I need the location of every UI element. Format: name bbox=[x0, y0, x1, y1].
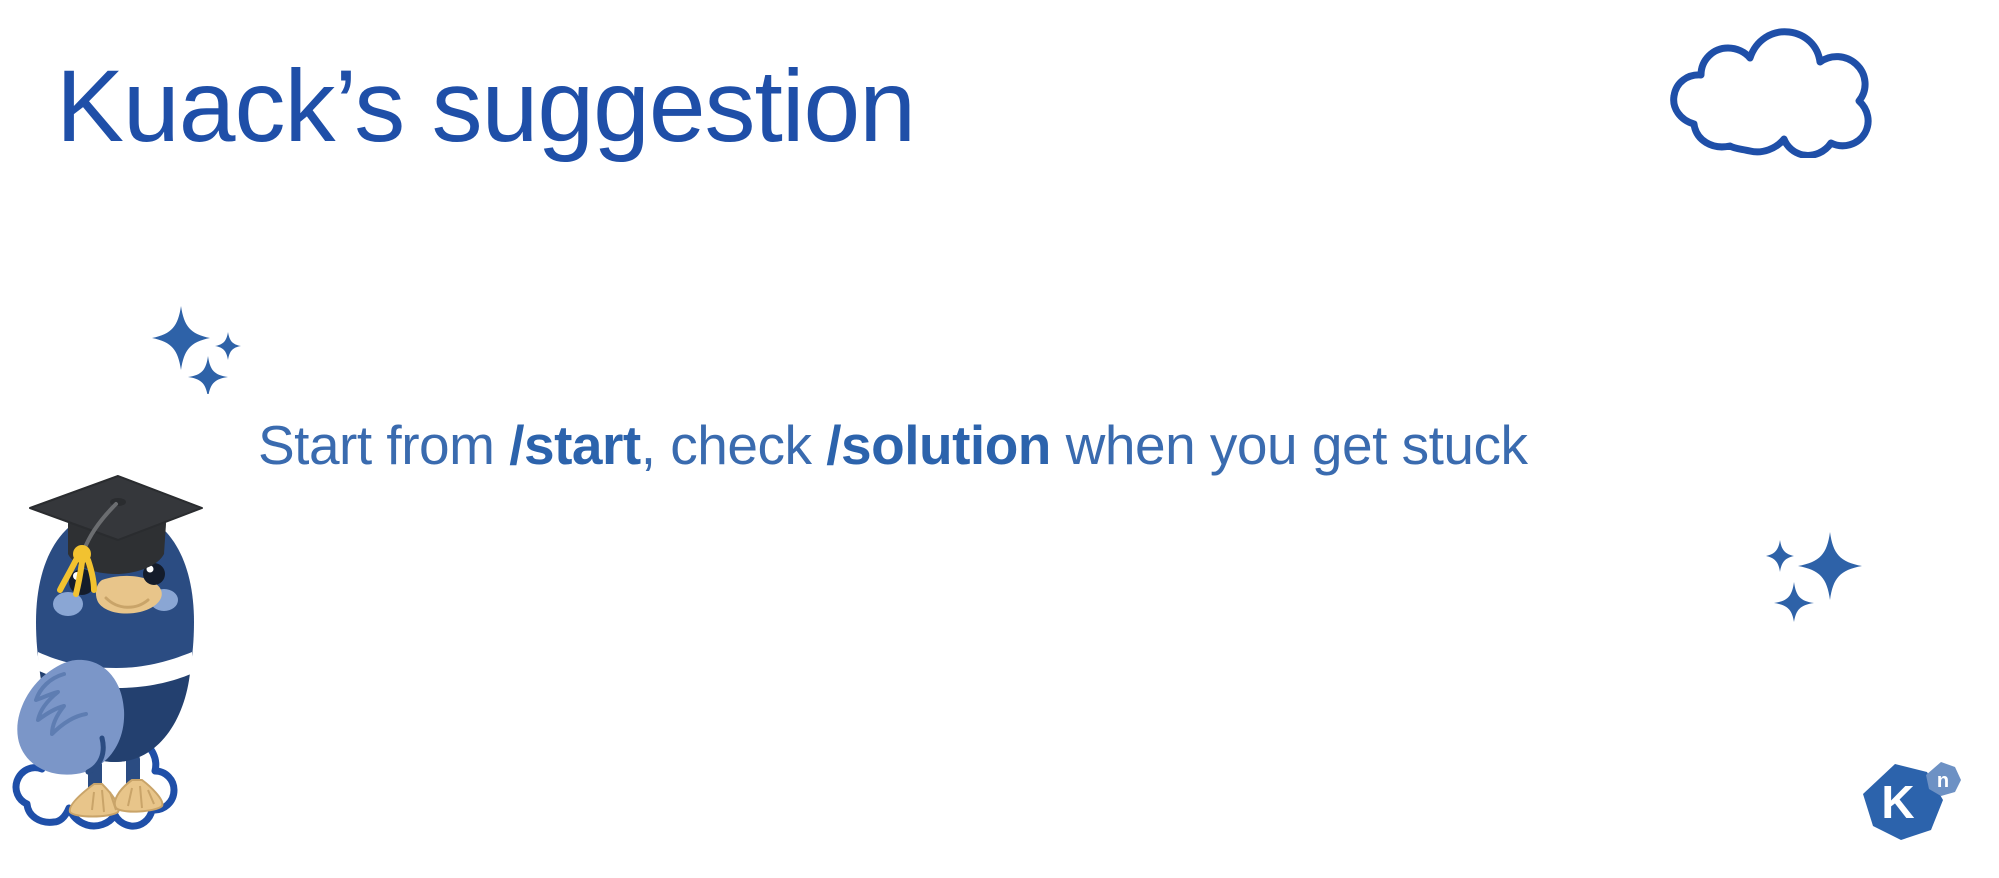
brand-logo-svg[interactable]: K n bbox=[1855, 760, 1965, 852]
sparkles-icon bbox=[148, 302, 248, 394]
page-title: Kuack’s suggestion bbox=[56, 40, 915, 173]
sparkle-medium bbox=[1774, 582, 1814, 622]
sparkles-icon bbox=[1758, 528, 1866, 623]
body-text: Start from /start, check /solution when … bbox=[258, 411, 1528, 480]
sparkle-medium bbox=[188, 356, 228, 394]
body-segment-3: when you get stuck bbox=[1051, 414, 1528, 476]
cloud-outline-svg bbox=[1668, 28, 1883, 158]
duck-graduate-mascot bbox=[6, 462, 224, 874]
mascot-svg bbox=[6, 462, 224, 874]
logo-badge-letter: n bbox=[1937, 770, 1949, 792]
command-solution: /solution bbox=[826, 414, 1051, 476]
brand-logo[interactable]: K n bbox=[1855, 760, 1965, 852]
body-segment-2: , check bbox=[641, 414, 827, 476]
logo-primary-letter: K bbox=[1881, 776, 1914, 828]
sparkle-large bbox=[1798, 532, 1862, 600]
cloud-outline-icon bbox=[1668, 28, 1883, 158]
slide-canvas: Kuack’s suggestion Start from /start, ch… bbox=[0, 0, 1999, 878]
command-start: /start bbox=[509, 414, 641, 476]
sparkle-small bbox=[215, 332, 241, 360]
sparkles-right-svg bbox=[1758, 528, 1866, 623]
sparkles-left-svg bbox=[148, 302, 248, 394]
sparkle-small bbox=[1766, 540, 1794, 572]
mascot-wing bbox=[17, 660, 124, 775]
body-segment-1: Start from bbox=[258, 414, 509, 476]
sparkle-large bbox=[152, 306, 210, 370]
